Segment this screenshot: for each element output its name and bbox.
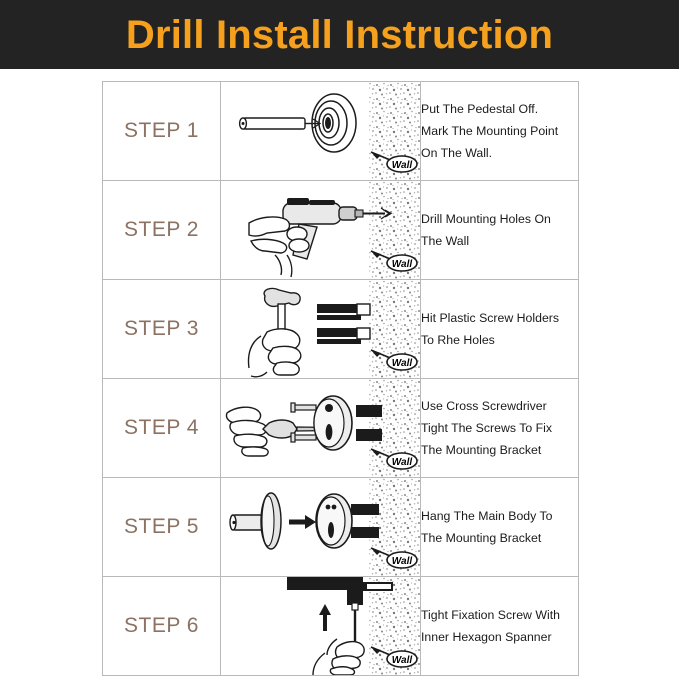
table-row: STEP 5	[103, 478, 579, 577]
svg-text:Wall: Wall	[392, 655, 413, 666]
table-row: STEP 4	[103, 379, 579, 478]
table-row: STEP 2	[103, 181, 579, 280]
desc-line: The Mounting Bracket	[421, 527, 578, 549]
step-figure-cell: Wall	[221, 181, 421, 280]
svg-text:Wall: Wall	[392, 358, 413, 369]
desc-line: Hang The Main Body To	[421, 505, 578, 527]
desc-line: To Rhe Holes	[421, 329, 578, 351]
step-figure-cell: Wall	[221, 478, 421, 577]
pedestal-and-mounting-disc-icon: Wall	[221, 82, 420, 180]
svg-text:Wall: Wall	[392, 556, 413, 567]
table-row: STEP 3	[103, 280, 579, 379]
desc-line: Mark The Mounting Point	[421, 120, 578, 142]
step-description: Put The Pedestal Off. Mark The Mounting …	[421, 82, 579, 181]
desc-line: Put The Pedestal Off.	[421, 98, 578, 120]
steps-table: STEP 1	[102, 81, 579, 676]
hand-holding-hammer-with-screw-anchors-icon: Wall	[221, 280, 420, 378]
svg-text:Wall: Wall	[392, 457, 413, 468]
step-label: STEP 5	[103, 478, 221, 577]
table-row: STEP 6	[103, 577, 579, 676]
desc-line: Tight The Screws To Fix	[421, 417, 578, 439]
step-label: STEP 1	[103, 82, 221, 181]
desc-line: The Wall	[421, 230, 578, 252]
step-figure-cell: Wall	[221, 577, 421, 676]
table-row: STEP 1	[103, 82, 579, 181]
hand-with-hex-key-tightening-fixation-screw-icon: Wall	[221, 577, 420, 675]
desc-line: On The Wall.	[421, 142, 578, 164]
desc-line: Tight Fixation Screw With	[421, 604, 578, 626]
desc-line: Drill Mounting Holes On	[421, 208, 578, 230]
step-label: STEP 2	[103, 181, 221, 280]
step-description: Tight Fixation Screw With Inner Hexagon …	[421, 577, 579, 676]
desc-line: The Mounting Bracket	[421, 439, 578, 461]
desc-line: Hit Plastic Screw Holders	[421, 307, 578, 329]
step-description: Drill Mounting Holes On The Wall	[421, 181, 579, 280]
desc-line: Use Cross Screwdriver	[421, 395, 578, 417]
step-label: STEP 6	[103, 577, 221, 676]
step-description: Hit Plastic Screw Holders To Rhe Holes	[421, 280, 579, 379]
page-title: Drill Install Instruction	[126, 15, 553, 55]
step-label: STEP 3	[103, 280, 221, 379]
desc-line: Inner Hexagon Spanner	[421, 626, 578, 648]
svg-text:Wall: Wall	[392, 259, 413, 270]
step-figure-cell: Wall	[221, 379, 421, 478]
step-label: STEP 4	[103, 379, 221, 478]
step-figure-cell: Wall	[221, 82, 421, 181]
svg-text:Wall: Wall	[392, 160, 413, 171]
instruction-sheet: Drill Install Instruction STEP 1	[0, 0, 679, 669]
step-description: Hang The Main Body To The Mounting Brack…	[421, 478, 579, 577]
main-body-hanging-onto-bracket-with-arrow-icon: Wall	[221, 478, 420, 576]
hand-holding-power-drill-icon: Wall	[221, 181, 420, 279]
step-figure-cell: Wall	[221, 280, 421, 379]
hand-with-screwdriver-and-bracket-plate-icon: Wall	[221, 379, 420, 477]
title-banner: Drill Install Instruction	[0, 0, 679, 69]
step-description: Use Cross Screwdriver Tight The Screws T…	[421, 379, 579, 478]
